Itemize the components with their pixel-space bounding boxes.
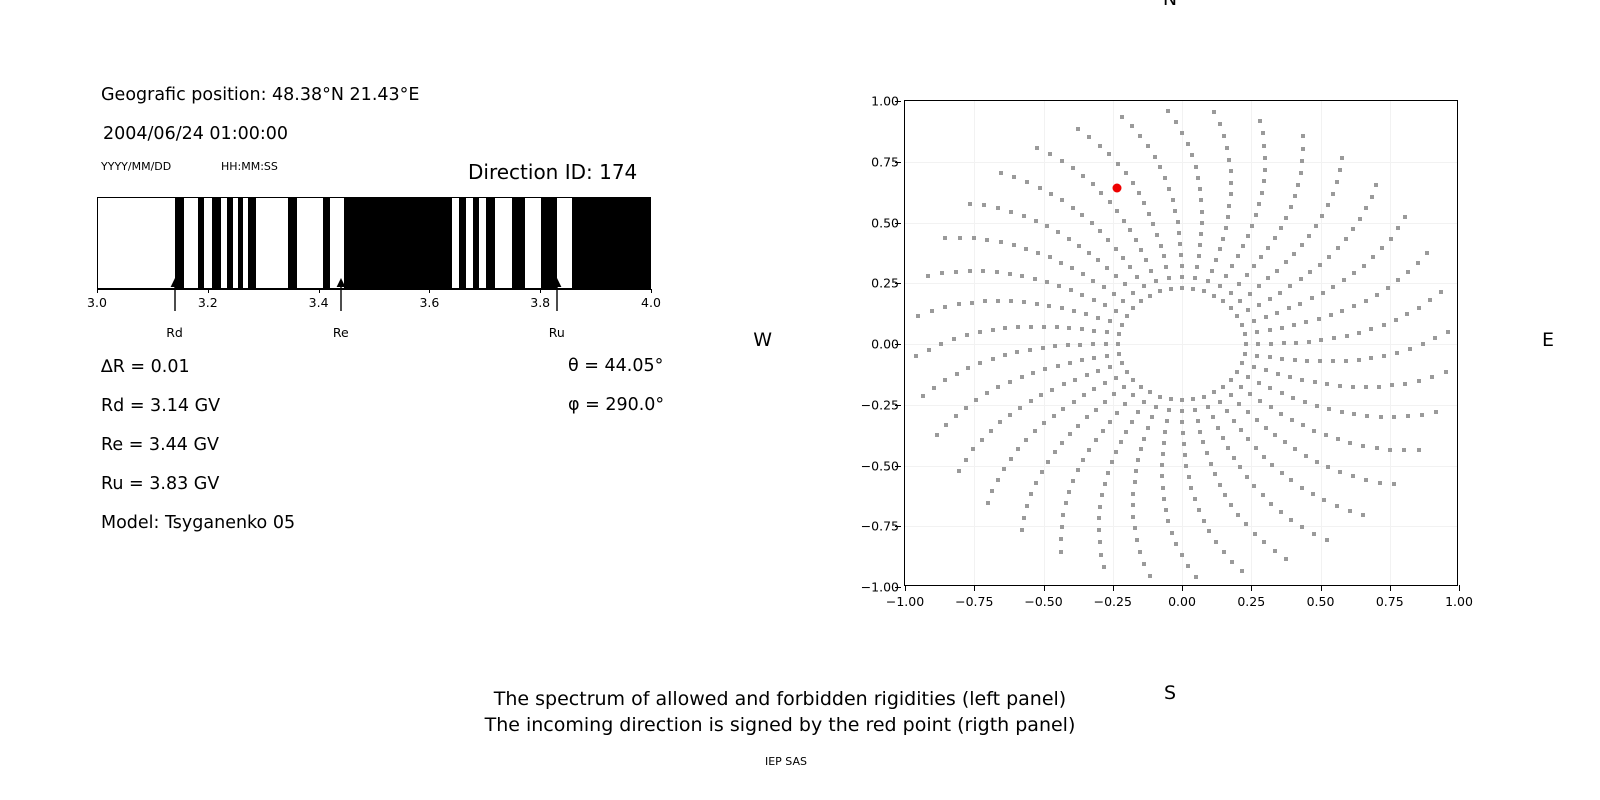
direction-point (1131, 515, 1135, 519)
direction-point (978, 330, 982, 334)
direction-point (1321, 291, 1325, 295)
direction-point (1103, 303, 1107, 307)
direction-point (1263, 168, 1267, 172)
direction-point (996, 206, 1000, 210)
direction-point (1369, 327, 1373, 331)
direction-point (952, 337, 956, 341)
direction-point (1318, 359, 1322, 363)
direction-point (1252, 319, 1256, 323)
direction-point (1245, 475, 1249, 479)
direction-point (1315, 404, 1319, 408)
forbidden-band (248, 198, 256, 288)
direction-point (1191, 287, 1195, 291)
axis-tick (429, 289, 430, 293)
polar-scatter-plot: −1.00−0.75−0.50−0.250.000.250.500.751.00… (904, 100, 1458, 586)
direction-point (1299, 171, 1303, 175)
direction-point (1250, 224, 1254, 228)
direction-point (1146, 144, 1150, 148)
direction-point (1331, 359, 1335, 363)
direction-point (1139, 447, 1143, 451)
direction-point (1180, 420, 1184, 424)
direction-point (1042, 325, 1046, 329)
y-axis-tick-label: 0.00 (871, 337, 899, 352)
direction-point (1312, 532, 1316, 536)
forbidden-band (227, 198, 233, 288)
direction-point (1243, 332, 1247, 336)
direction-point (1201, 440, 1205, 444)
direction-point (1357, 331, 1361, 335)
direction-point (1043, 367, 1047, 371)
direction-point (935, 433, 939, 437)
direction-point (1028, 348, 1032, 352)
direction-point (1022, 516, 1026, 520)
direction-point (1138, 550, 1142, 554)
direction-point (1319, 338, 1323, 342)
direction-point (1417, 379, 1421, 383)
direction-point (1195, 265, 1199, 269)
compass-north-label: N (1163, 0, 1177, 10)
direction-point (1362, 264, 1366, 268)
direction-point (1205, 451, 1209, 455)
direction-point (1173, 209, 1177, 213)
direction-point (1336, 246, 1340, 250)
direction-point (1003, 326, 1007, 330)
direction-point (1326, 465, 1330, 469)
direction-point (1193, 497, 1197, 501)
direction-point (1394, 318, 1398, 322)
direction-point (1212, 390, 1216, 394)
x-axis-tick-label: −1.00 (886, 594, 924, 609)
direction-point (1287, 306, 1291, 310)
x-axis-tick (1113, 585, 1114, 591)
direction-point (1194, 575, 1198, 579)
direction-point (1209, 462, 1213, 466)
direction-point (1252, 484, 1256, 488)
direction-point (1070, 266, 1074, 270)
direction-point (1159, 244, 1163, 248)
direction-point (1161, 452, 1165, 456)
direction-point (1158, 395, 1162, 399)
direction-point (1148, 574, 1152, 578)
x-axis-tick (1390, 585, 1391, 591)
direction-point (1246, 234, 1250, 238)
datetime-label: 2004/06/24 01:00:00 (103, 124, 288, 144)
direction-point (1034, 481, 1038, 485)
direction-point (1207, 529, 1211, 533)
direction-point (1108, 365, 1112, 369)
direction-point (1114, 309, 1118, 313)
forbidden-band (344, 198, 452, 288)
date-format-hint: YYYY/MM/DD (101, 160, 171, 173)
direction-point (1174, 120, 1178, 124)
gridline-vertical (974, 101, 975, 585)
direction-point (1015, 350, 1019, 354)
direction-point (921, 394, 925, 398)
direction-point (1389, 237, 1393, 241)
direction-point (1094, 408, 1098, 412)
direction-point (1288, 375, 1292, 379)
x-axis-tick (974, 585, 975, 591)
direction-point (1240, 569, 1244, 573)
direction-point (1198, 243, 1202, 247)
direction-point (1038, 186, 1042, 190)
direction-point (1292, 323, 1296, 327)
direction-point (1279, 412, 1283, 416)
direction-point (1294, 341, 1298, 345)
x-axis-tick (1459, 585, 1460, 591)
direction-point (1298, 302, 1302, 306)
direction-point (1096, 258, 1100, 262)
direction-point (1224, 226, 1228, 230)
spectrum-band-strip (97, 197, 651, 289)
x-axis-tick-label: 1.00 (1445, 594, 1473, 609)
direction-point (1206, 279, 1210, 283)
direction-point (1158, 289, 1162, 293)
direction-point (1102, 565, 1106, 569)
x-axis-tick-label: −0.25 (1094, 594, 1132, 609)
direction-point (1444, 370, 1448, 374)
direction-point (1087, 135, 1091, 139)
direction-point (1048, 255, 1052, 259)
direction-point (1243, 352, 1247, 356)
direction-point (1194, 165, 1198, 169)
direction-point (1067, 326, 1071, 330)
direction-point (1364, 206, 1368, 210)
direction-point (1139, 385, 1143, 389)
direction-point (1405, 312, 1409, 316)
direction-point (1020, 528, 1024, 532)
direction-point (1278, 291, 1282, 295)
direction-point (1180, 553, 1184, 557)
direction-point (1283, 440, 1287, 444)
direction-point (1035, 146, 1039, 150)
direction-point (1326, 203, 1330, 207)
direction-point (1171, 198, 1175, 202)
y-axis-tick-label: 1.00 (871, 94, 899, 109)
direction-point (1417, 306, 1421, 310)
direction-point (1322, 498, 1326, 502)
direction-point (1128, 228, 1132, 232)
direction-point (1094, 438, 1098, 442)
direction-point (1338, 384, 1342, 388)
direction-point (1174, 542, 1178, 546)
direction-point (1182, 442, 1186, 446)
direction-point (1206, 405, 1210, 409)
forbidden-band (459, 198, 466, 288)
direction-point (1260, 191, 1264, 195)
direction-point (1199, 232, 1203, 236)
direction-point (986, 501, 990, 505)
direction-point (1229, 192, 1233, 196)
direction-point (1197, 254, 1201, 258)
direction-point (958, 236, 962, 240)
direction-point (1221, 299, 1225, 303)
direction-point (916, 314, 920, 318)
direction-point (1060, 441, 1064, 445)
direction-point (1064, 501, 1068, 505)
direction-point (970, 301, 974, 305)
gridline-vertical (1251, 101, 1252, 585)
direction-id-label: Direction ID: 174 (468, 160, 637, 184)
direction-point (1230, 560, 1234, 564)
direction-point (1236, 513, 1240, 517)
direction-point (1342, 278, 1346, 282)
direction-point (914, 354, 918, 358)
direction-point (1186, 564, 1190, 568)
direction-point (1107, 152, 1111, 156)
direction-point (1200, 210, 1204, 214)
direction-point (1187, 475, 1191, 479)
direction-point (1348, 441, 1352, 445)
direction-point (1388, 448, 1392, 452)
direction-point (954, 270, 958, 274)
direction-point (1150, 415, 1154, 419)
direction-point (1076, 127, 1080, 131)
direction-point (1085, 373, 1089, 377)
direction-point (1105, 266, 1109, 270)
direction-point (1100, 493, 1104, 497)
direction-point (1226, 446, 1230, 450)
direction-point (1142, 400, 1146, 404)
direction-point (1269, 405, 1273, 409)
direction-point (1229, 306, 1233, 310)
direction-point (1369, 356, 1373, 360)
direction-point (985, 391, 989, 395)
direction-point (1279, 510, 1283, 514)
direction-point (1229, 169, 1233, 173)
direction-point (1202, 519, 1206, 523)
direction-point (1374, 183, 1378, 187)
direction-point (1292, 252, 1296, 256)
direction-point (1256, 342, 1260, 346)
direction-point (1417, 448, 1421, 452)
direction-point (1331, 285, 1335, 289)
forbidden-band (486, 198, 495, 288)
direction-point (1085, 415, 1089, 419)
direction-point (1177, 231, 1181, 235)
direction-point (1403, 382, 1407, 386)
direction-point (1254, 213, 1258, 217)
direction-point (1336, 437, 1340, 441)
direction-point (1131, 393, 1135, 397)
axis-tick (540, 289, 541, 293)
direction-point (1311, 492, 1315, 496)
direction-point (1048, 152, 1052, 156)
direction-point (1314, 224, 1318, 228)
direction-point (1291, 396, 1295, 400)
direction-point (1170, 531, 1174, 535)
direction-point (1261, 493, 1265, 497)
direction-point (1122, 219, 1126, 223)
direction-point (1136, 458, 1140, 462)
direction-point (1041, 346, 1045, 350)
direction-point (1080, 213, 1084, 217)
direction-point (1167, 408, 1171, 412)
direction-point (1392, 415, 1396, 419)
direction-point (1123, 402, 1127, 406)
direction-point (1136, 410, 1140, 414)
direction-point (1386, 286, 1390, 290)
direction-point (1375, 446, 1379, 450)
direction-point (1024, 247, 1028, 251)
axis-tick (208, 289, 209, 293)
direction-point (971, 447, 975, 451)
direction-point (991, 357, 995, 361)
direction-point (1190, 153, 1194, 157)
direction-point (1082, 393, 1086, 397)
direction-point (1238, 465, 1242, 469)
direction-point (1116, 342, 1120, 346)
direction-point (1134, 238, 1138, 242)
direction-point (1102, 285, 1106, 289)
direction-point (1262, 144, 1266, 148)
direction-point (1135, 275, 1139, 279)
direction-point (1002, 467, 1006, 471)
direction-point (1184, 464, 1188, 468)
direction-point (1142, 201, 1146, 205)
compass-east-label: E (1542, 329, 1554, 351)
direction-point (1293, 447, 1297, 451)
direction-point (1147, 212, 1151, 216)
direction-point (1139, 248, 1143, 252)
direction-point (1151, 222, 1155, 226)
gridline-vertical (1182, 101, 1183, 585)
direction-point (1276, 372, 1280, 376)
direction-point (996, 385, 1000, 389)
direction-point (1240, 361, 1244, 365)
direction-point (1248, 392, 1252, 396)
direction-point (1304, 320, 1308, 324)
direction-point (1284, 557, 1288, 561)
direction-point (1146, 426, 1150, 430)
direction-point (1131, 378, 1135, 382)
direction-point (1218, 284, 1222, 288)
forbidden-band (572, 198, 651, 288)
direction-point (1189, 486, 1193, 490)
direction-point (1096, 316, 1100, 320)
y-axis-tick-label: −1.00 (861, 580, 899, 595)
direction-point (1222, 550, 1226, 554)
direction-point (1098, 505, 1102, 509)
direction-point (1300, 525, 1304, 529)
direction-point (1042, 421, 1046, 425)
direction-point (1066, 343, 1070, 347)
direction-point (1236, 254, 1240, 258)
direction-point (996, 299, 1000, 303)
direction-point (1167, 276, 1171, 280)
direction-point (1164, 265, 1168, 269)
direction-point (1106, 471, 1110, 475)
direction-point (1379, 415, 1383, 419)
gridline-vertical (1113, 101, 1114, 585)
direction-point (1213, 472, 1217, 476)
direction-point (1308, 270, 1312, 274)
direction-point (1352, 271, 1356, 275)
direction-point (1016, 325, 1020, 329)
direction-point (1305, 359, 1309, 363)
direction-point (1320, 214, 1324, 218)
direction-point (1072, 309, 1076, 313)
direction-point (1112, 292, 1116, 296)
direction-point (1186, 142, 1190, 146)
direction-point (1307, 234, 1311, 238)
y-axis-tick-label: −0.25 (861, 397, 899, 412)
direction-point (1101, 429, 1105, 433)
direction-point (1081, 458, 1085, 462)
direction-point (1235, 370, 1239, 374)
x-axis-tick-label: 0.50 (1307, 594, 1335, 609)
direction-point (1225, 409, 1229, 413)
marker-arrow-rd (168, 277, 182, 311)
direction-point (1216, 426, 1220, 430)
direction-point (1049, 192, 1053, 196)
direction-point (1062, 382, 1066, 386)
y-axis-tick-label: −0.50 (861, 458, 899, 473)
direction-point (1198, 187, 1202, 191)
direction-point (1268, 297, 1272, 301)
direction-point (1318, 263, 1322, 267)
x-axis-tick (1321, 585, 1322, 591)
direction-point (1340, 156, 1344, 160)
direction-point (1284, 260, 1288, 264)
direction-point (1133, 480, 1137, 484)
direction-point (1212, 110, 1216, 114)
direction-point (1230, 264, 1234, 268)
direction-point (1223, 493, 1227, 497)
direction-point (1312, 429, 1316, 433)
direction-point (926, 274, 930, 278)
direction-point (1232, 419, 1236, 423)
direction-point (1178, 242, 1182, 246)
direction-point (1289, 518, 1293, 522)
direction-point (1087, 251, 1091, 255)
direction-point (1098, 540, 1102, 544)
direction-point (1266, 276, 1270, 280)
direction-point (1165, 419, 1169, 423)
direction-point (1433, 336, 1437, 340)
direction-point (1105, 330, 1109, 334)
direction-point (1098, 144, 1102, 148)
direction-point (1402, 448, 1406, 452)
direction-point (1067, 237, 1071, 241)
direction-point (1142, 437, 1146, 441)
direction-point (1262, 179, 1266, 183)
gridline-horizontal (905, 405, 1457, 406)
direction-point (1244, 342, 1248, 346)
direction-point (1229, 181, 1233, 185)
direction-point (1351, 227, 1355, 231)
direction-point (1301, 423, 1305, 427)
direction-point (1288, 284, 1292, 288)
direction-point (1120, 361, 1124, 365)
direction-point (1282, 341, 1286, 345)
direction-point (1072, 400, 1076, 404)
direction-point (1057, 284, 1061, 288)
direction-point (1181, 431, 1185, 435)
direction-point (1226, 215, 1230, 219)
direction-point (1180, 286, 1184, 290)
direction-point (1162, 497, 1166, 501)
direction-point (981, 269, 985, 273)
direction-point (1142, 562, 1146, 566)
direction-point (1237, 282, 1241, 286)
direction-point (1296, 183, 1300, 187)
direction-point (1104, 342, 1108, 346)
direction-point (1340, 309, 1344, 313)
direction-point (972, 236, 976, 240)
direction-point (1029, 399, 1033, 403)
direction-point (1406, 270, 1410, 274)
